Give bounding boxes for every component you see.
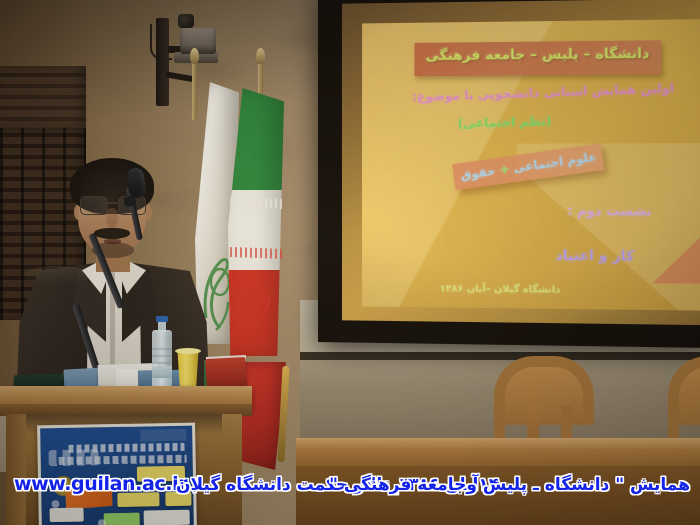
flagpole-finial-university	[190, 48, 199, 64]
camera-lens	[178, 14, 194, 28]
presentation-slide: دانشگاه – پلیس – جامعه فرهنگی اولین همای…	[362, 19, 700, 311]
poster-box-white-2	[50, 508, 84, 523]
nose	[106, 208, 118, 228]
chair-back-arch	[494, 356, 594, 425]
glasses-bridge	[106, 202, 118, 204]
wood-slat-panel-upper	[0, 66, 86, 128]
conference-table-sheen	[296, 438, 700, 450]
bottle-cap	[156, 316, 168, 322]
red-book	[205, 357, 247, 389]
bottle-label	[152, 366, 172, 378]
poster-box-green	[104, 513, 140, 525]
photo-screenshot: دانشگاه – پلیس – جامعه فرهنگی اولین همای…	[0, 0, 700, 525]
camera-bracket	[156, 18, 169, 106]
flagpole-finial-iran	[256, 48, 265, 64]
lens-left	[80, 196, 108, 215]
podium-leg	[6, 414, 26, 525]
shoulder-highlight	[24, 266, 90, 284]
projection-surface: دانشگاه – پلیس – جامعه فرهنگی اولین همای…	[342, 0, 700, 325]
poster-box-yellow-3	[165, 492, 191, 506]
yellow-cup-rim	[175, 348, 201, 354]
poster-box-white-1	[144, 510, 190, 525]
slide-vignette	[362, 19, 700, 311]
poster-dot-1	[51, 500, 59, 508]
conference-table-front	[296, 466, 700, 525]
poster-dot-2	[98, 519, 106, 525]
projection-screen: دانشگاه – پلیس – جامعه فرهنگی اولین همای…	[318, 0, 700, 348]
iran-flag-emblem	[238, 282, 274, 316]
conference-poster	[37, 423, 197, 525]
poster-box-yellow-2	[117, 492, 159, 507]
iran-flag-kufic-top	[230, 197, 284, 209]
mustache	[94, 228, 130, 239]
poster-emblem-row	[49, 449, 99, 466]
flagpole-university	[192, 62, 197, 120]
water-bottle	[152, 316, 172, 388]
poster-header-band	[140, 429, 186, 442]
iran-flag-kufic-bottom	[230, 247, 284, 259]
yellow-cup	[176, 350, 200, 388]
poster-box-yellow-1	[137, 466, 185, 482]
